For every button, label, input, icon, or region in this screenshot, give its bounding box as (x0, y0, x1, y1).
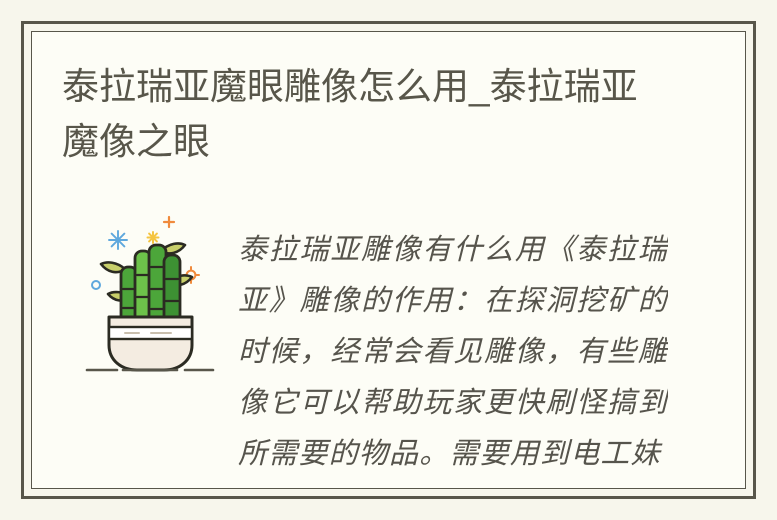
potted-bamboo-plant-illustration (65, 205, 235, 385)
article-inner-frame: 泰拉瑞亚魔眼雕像怎么用_泰拉瑞亚魔像之眼 (31, 31, 746, 489)
flower-pot (109, 317, 192, 370)
star-sparkle-icon (148, 232, 159, 243)
bamboo-stalks (121, 245, 180, 323)
snowflake-sparkle-icon (109, 231, 127, 249)
article-body-text: 泰拉瑞亚雕像有什么用《泰拉瑞亚》雕像的作用：在探洞挖矿的时候，经常会看见雕像，有… (238, 224, 668, 489)
article-card: 泰拉瑞亚魔眼雕像怎么用_泰拉瑞亚魔像之眼 (21, 21, 756, 499)
page-title: 泰拉瑞亚魔眼雕像怎么用_泰拉瑞亚魔像之眼 (62, 59, 662, 169)
plus-sparkle-icon (164, 217, 174, 227)
dot-sparkle-icon (92, 281, 100, 289)
